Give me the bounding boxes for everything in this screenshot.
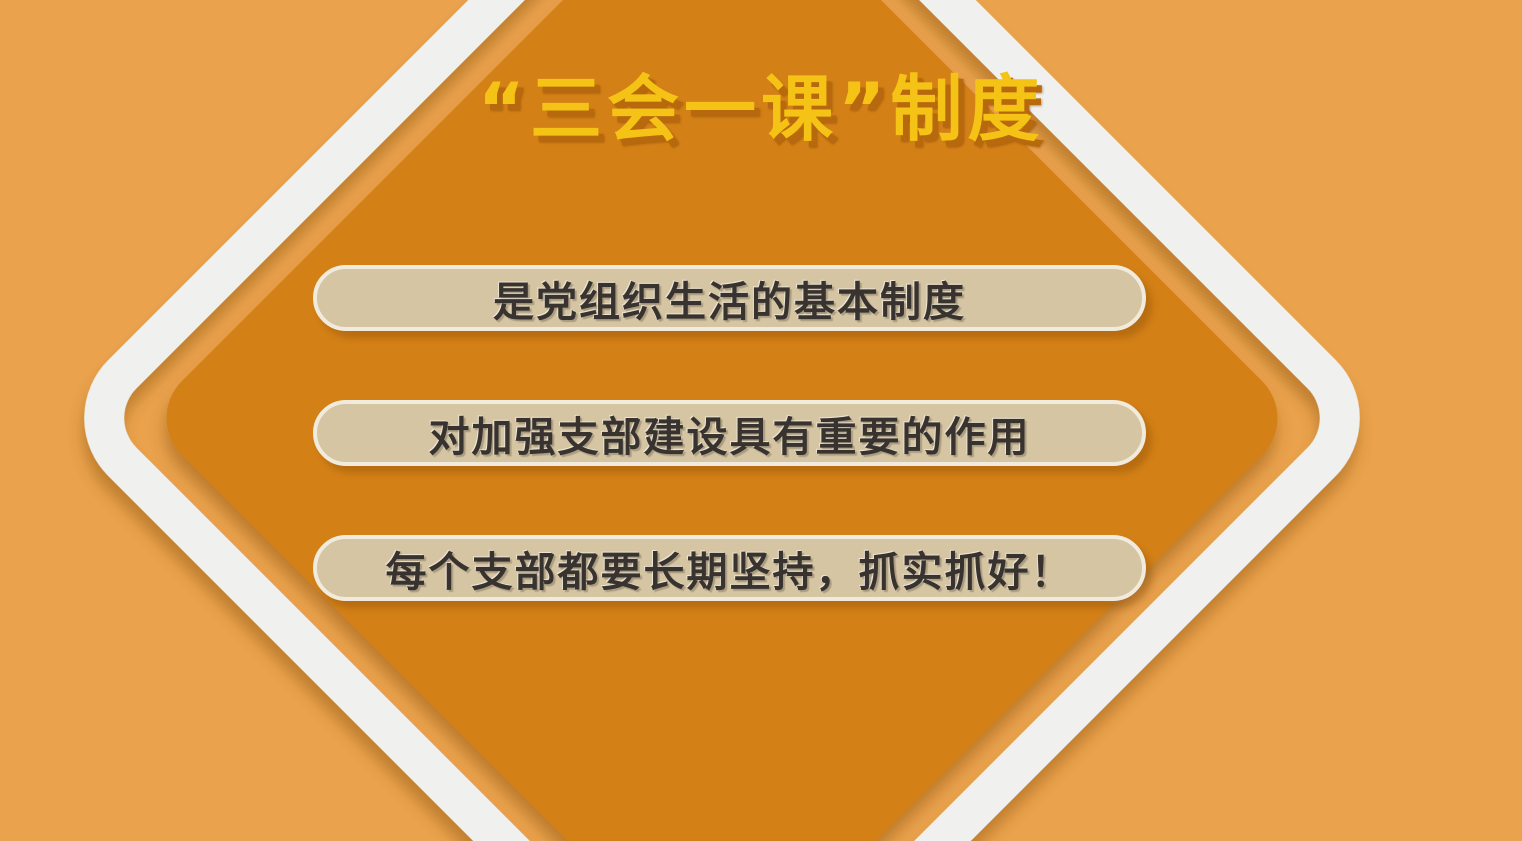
slide-canvas: “三会一课”制度 是党组织生活的基本制度 对加强支部建设具有重要的作用 每个支部…	[0, 0, 1522, 841]
point-pill-2: 对加强支部建设具有重要的作用	[313, 400, 1146, 466]
page-title: “三会一课”制度	[0, 72, 1522, 148]
point-pill-1-label: 是党组织生活的基本制度	[493, 268, 966, 328]
point-pill-3-label: 每个支部都要长期坚持，抓实抓好！	[386, 538, 1074, 598]
slide-content: “三会一课”制度 是党组织生活的基本制度 对加强支部建设具有重要的作用 每个支部…	[0, 0, 1522, 841]
point-pill-3: 每个支部都要长期坚持，抓实抓好！	[313, 535, 1146, 601]
point-pill-1: 是党组织生活的基本制度	[313, 265, 1146, 331]
point-pill-2-label: 对加强支部建设具有重要的作用	[429, 403, 1031, 463]
